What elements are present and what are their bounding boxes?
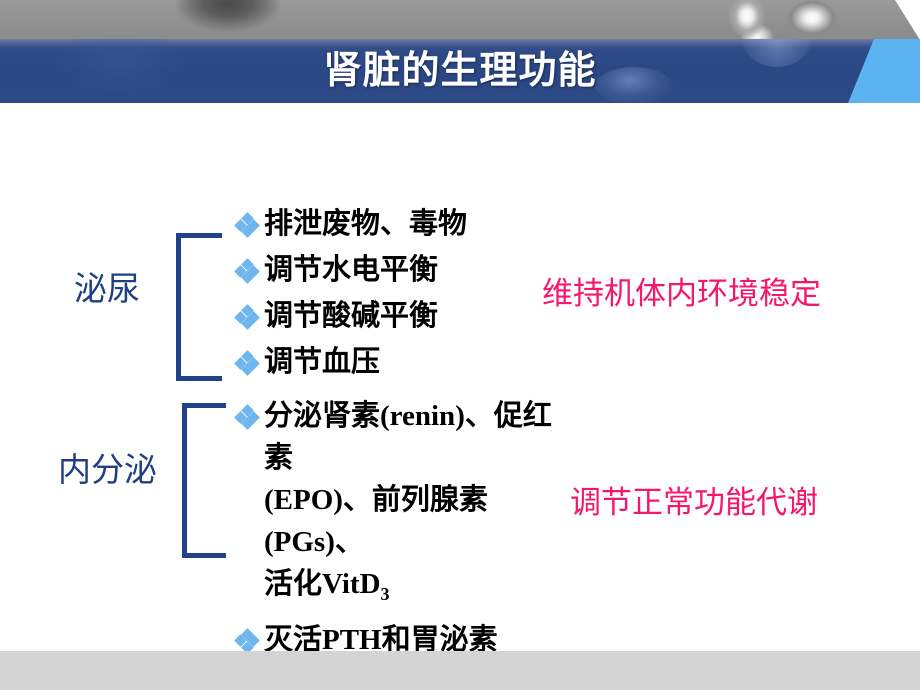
- bullet-text: 排泄废物、毒物: [264, 203, 467, 245]
- bullet-text: 分泌肾素(renin)、促红素 (EPO)、前列腺素(PGs)、 活化VitD3: [264, 395, 566, 615]
- slide-header: 肾脏的生理功能: [0, 0, 920, 103]
- bullet-text-subscript: 3: [381, 584, 390, 604]
- bracket-endocrine: [182, 403, 226, 558]
- bullet-text: 调节水电平衡: [264, 249, 438, 291]
- slide-content: 泌尿 排泄废物、毒物 调节水电平衡 调节酸碱平衡: [0, 103, 920, 651]
- note-endocrine: 调节正常功能代谢: [570, 485, 818, 521]
- list-item: 调节水电平衡: [236, 249, 536, 291]
- slide: 肾脏的生理功能 泌尿 排泄废物、毒物 调节水电平衡: [0, 0, 920, 690]
- bullet-list-endocrine: 分泌肾素(renin)、促红素 (EPO)、前列腺素(PGs)、 活化VitD3…: [236, 395, 566, 665]
- bullet-text-main: 分泌肾素(renin)、促红素 (EPO)、前列腺素(PGs)、 活化VitD: [264, 400, 552, 600]
- footer-bar: [0, 651, 920, 690]
- bullet-text: 调节酸碱平衡: [264, 295, 438, 337]
- page-title: 肾脏的生理功能: [0, 39, 920, 103]
- bracket-urinary: [176, 233, 222, 381]
- list-item: 排泄废物、毒物: [236, 203, 536, 245]
- bullet-list-urinary: 排泄废物、毒物 调节水电平衡 调节酸碱平衡 调节血压: [236, 203, 536, 387]
- group-label-endocrine: 内分泌: [58, 453, 157, 489]
- diamond-bullet-icon: [236, 406, 258, 428]
- diamond-bullet-icon: [236, 352, 258, 374]
- list-item: 分泌肾素(renin)、促红素 (EPO)、前列腺素(PGs)、 活化VitD3: [236, 395, 566, 615]
- diamond-bullet-icon: [236, 214, 258, 236]
- list-item: 调节酸碱平衡: [236, 295, 536, 337]
- bullet-text: 调节血压: [264, 341, 380, 383]
- group-label-urinary: 泌尿: [74, 272, 140, 308]
- diamond-bullet-icon: [236, 630, 258, 652]
- diamond-bullet-icon: [236, 260, 258, 282]
- note-urinary: 维持机体内环境稳定: [542, 276, 821, 312]
- diamond-bullet-icon: [236, 306, 258, 328]
- list-item: 调节血压: [236, 341, 536, 383]
